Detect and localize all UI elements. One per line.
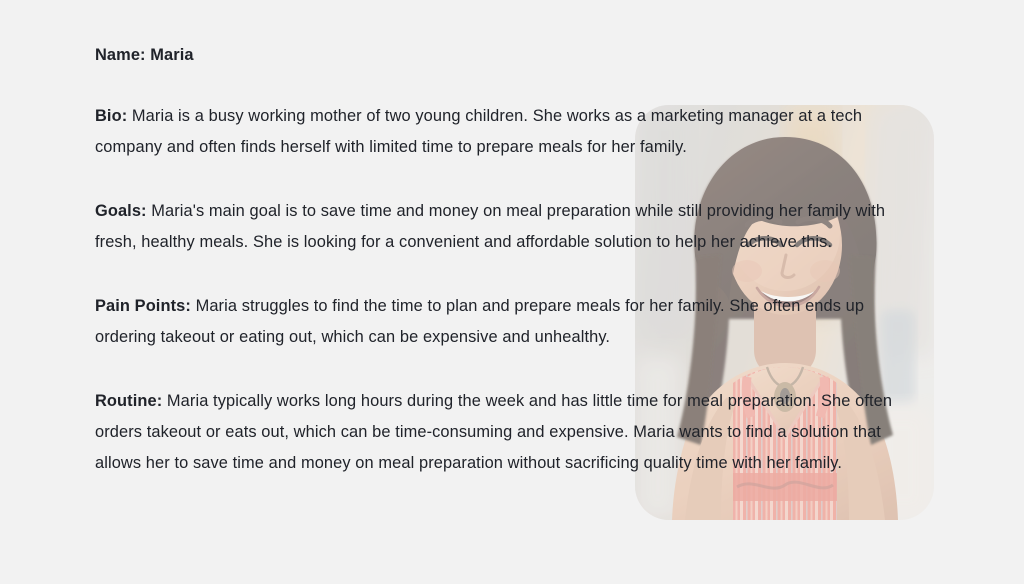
persona-section-goals-label: Goals: xyxy=(95,202,147,220)
persona-section-routine: Routine: Maria typically works long hour… xyxy=(95,386,915,479)
persona-section-goals: Goals: Maria's main goal is to save time… xyxy=(95,196,915,258)
persona-section-goals-text: Maria's main goal is to save time and mo… xyxy=(95,202,885,251)
persona-section-pain-points-label: Pain Points: xyxy=(95,297,191,315)
persona-section-pain-points: Pain Points: Maria struggles to find the… xyxy=(95,291,915,353)
persona-section-routine-text: Maria typically works long hours during … xyxy=(95,392,892,472)
persona-section-pain-points-text: Maria struggles to find the time to plan… xyxy=(95,297,864,346)
persona-section-bio-text: Maria is a busy working mother of two yo… xyxy=(95,107,862,156)
persona-text-block: Name: Maria Bio: Maria is a busy working… xyxy=(95,42,915,479)
persona-name-heading: Name: Maria xyxy=(95,42,915,68)
persona-section-bio: Bio: Maria is a busy working mother of t… xyxy=(95,101,915,163)
persona-section-routine-label: Routine: xyxy=(95,392,162,410)
persona-card: Name: Maria Bio: Maria is a busy working… xyxy=(0,0,1024,584)
persona-section-bio-label: Bio: xyxy=(95,107,127,125)
